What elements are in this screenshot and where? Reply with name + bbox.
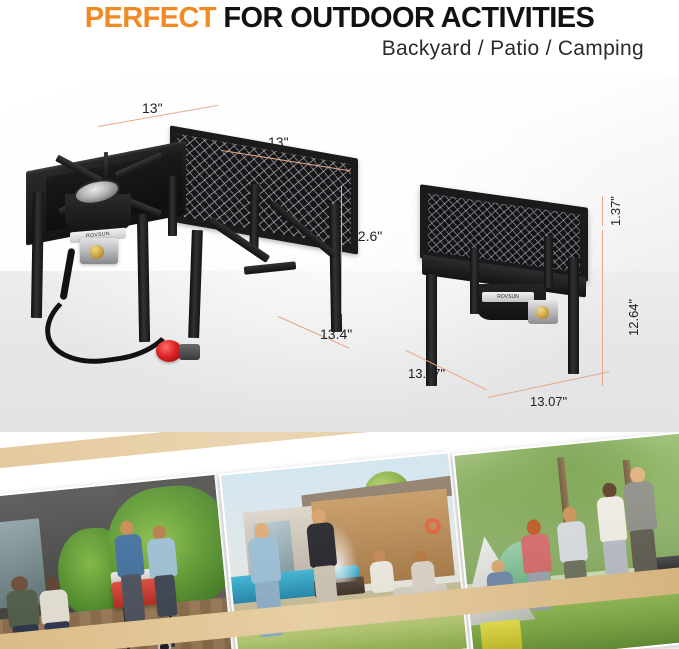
table-leg-back (249, 184, 259, 250)
dim-line-thickness-right (602, 196, 603, 226)
folding-brace-lower (244, 261, 297, 274)
product-stage: ROVSUN ROVSUN (0, 78, 679, 450)
dim-label-width-right: 13.07" (530, 394, 567, 409)
dim-label-left-top: 13" (142, 100, 163, 116)
header: PERFECT FOR OUTDOOR ACTIVITIES Backyard … (0, 0, 679, 78)
burner-leg-front-left (31, 192, 44, 318)
right-leg-back-left (470, 248, 479, 314)
regulator-coupling (179, 344, 200, 360)
dim-line-height-left (341, 186, 342, 314)
right-leg-front-right (568, 258, 579, 374)
subtitle: Backyard / Patio / Camping (382, 37, 644, 61)
table-leg-front (188, 230, 203, 338)
product-infographic: PERFECT FOR OUTDOOR ACTIVITIES Backyard … (0, 0, 679, 649)
brass-fitting-left (90, 245, 104, 259)
title-rest: FOR OUTDOOR ACTIVITIES (216, 2, 594, 34)
dim-label-depth-left: 13.4" (320, 326, 352, 342)
dim-line-height-right (602, 230, 603, 386)
dim-label-depth-right: 13.07" (408, 366, 445, 381)
right-leg-back-right (544, 236, 553, 288)
photo-overlay (454, 433, 679, 649)
dim-label-table-width: 13" (268, 134, 289, 150)
lifestyle-gallery (0, 432, 679, 649)
product-left: ROVSUN (18, 118, 358, 393)
brand-label-right: ROVSUN (482, 292, 534, 302)
brass-fitting-right (536, 306, 549, 319)
dim-label-thickness-right: 1.37" (608, 196, 623, 226)
dim-label-height-left: 12.6" (350, 228, 382, 244)
burner-leg-back (168, 176, 177, 236)
photo-camping (452, 432, 679, 649)
dim-label-height-right: 12.64" (626, 299, 641, 336)
page-title: PERFECT FOR OUTDOOR ACTIVITIES (0, 2, 679, 35)
scene-camping (454, 433, 679, 649)
title-highlight: PERFECT (85, 2, 216, 34)
